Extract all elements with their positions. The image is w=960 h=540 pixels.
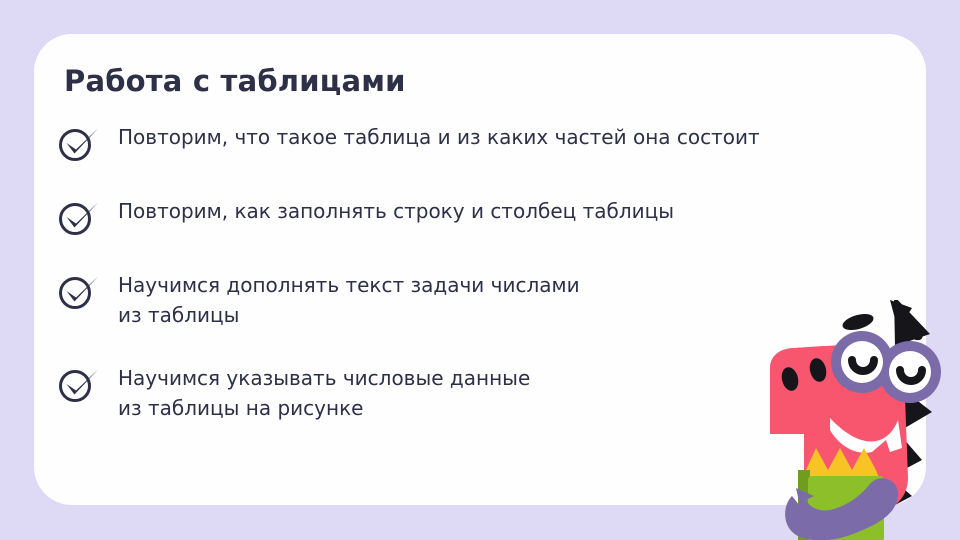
check-circle-icon <box>58 124 102 164</box>
check-circle-icon <box>58 272 102 312</box>
list-item: Повторим, как заполнять строку и столбец… <box>58 196 888 238</box>
slide: Работа с таблицами Повторим, что такое т… <box>0 0 960 540</box>
list-item-label: Научимся дополнять текст задачи числами … <box>118 270 888 330</box>
bullet-list: Повторим, что такое таблица и из каких ч… <box>58 122 888 423</box>
check-circle-icon <box>58 365 102 405</box>
list-item-label: Повторим, что такое таблица и из каких ч… <box>118 122 888 152</box>
list-item: Научимся дополнять текст задачи числами … <box>58 270 888 330</box>
list-item: Повторим, что такое таблица и из каких ч… <box>58 122 888 164</box>
list-item: Научимся указывать числовые данные из та… <box>58 363 888 423</box>
list-item-label: Научимся указывать числовые данные из та… <box>118 363 888 423</box>
page-title: Работа с таблицами <box>64 64 406 98</box>
check-circle-icon <box>58 198 102 238</box>
list-item-label: Повторим, как заполнять строку и столбец… <box>118 196 888 226</box>
